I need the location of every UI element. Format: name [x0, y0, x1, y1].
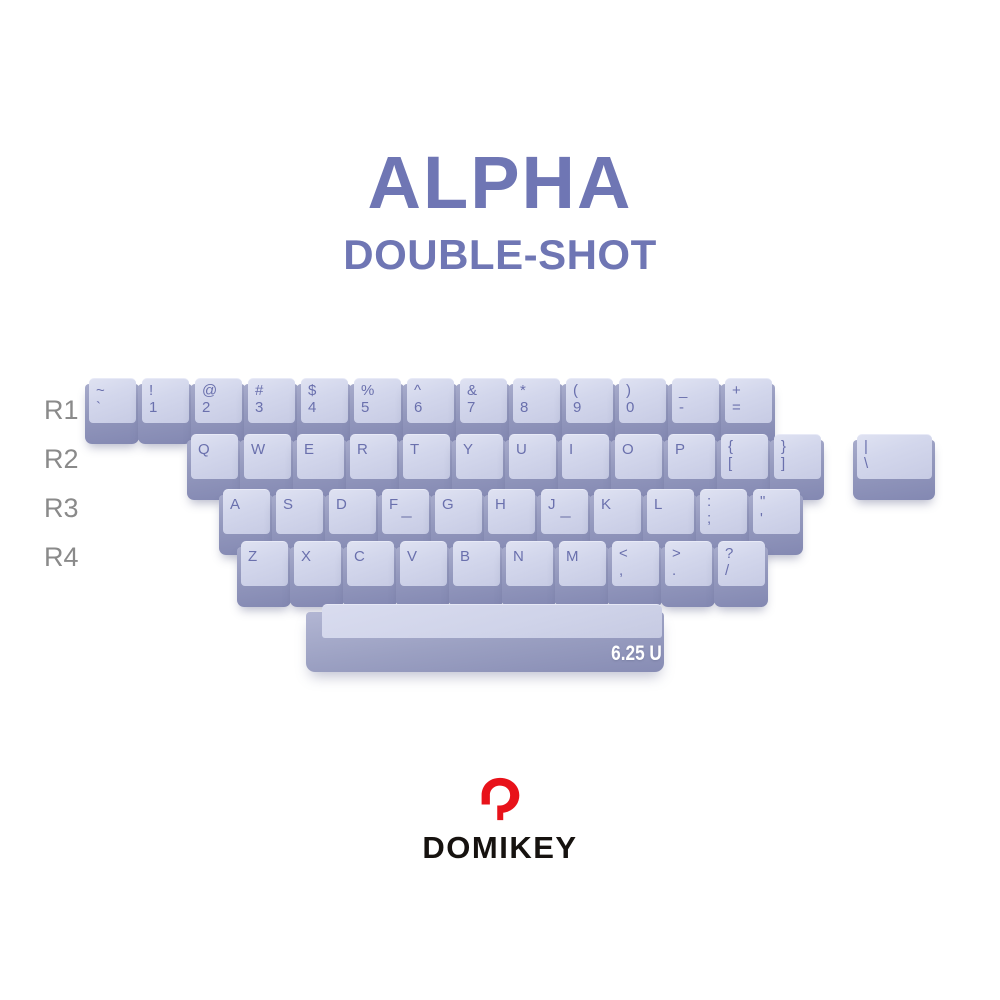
keycap-r1-3[interactable]: #3 [247, 378, 297, 436]
keycap-top-face: N [506, 541, 553, 586]
keycap-top-face: ?/ [718, 541, 765, 586]
keycap-legend: X [294, 542, 341, 586]
keycap-legend-shift: # [255, 383, 295, 398]
keycap-legend-shift: % [361, 383, 401, 398]
keycap-legend-shift: ! [149, 383, 189, 398]
keycap-top-face: D [329, 489, 376, 534]
spacebar-top-face [322, 604, 662, 638]
keycap-r3-sym9[interactable]: :; [699, 489, 749, 547]
keycap-legend: %5 [354, 379, 401, 423]
spacebar-size-label: 6.25 U [611, 642, 662, 666]
keycap-top-face: R [350, 434, 397, 479]
keycap-legend-shift: + [732, 383, 772, 398]
keycap-top-face: (9 [566, 378, 613, 423]
keycap-legend: P [668, 435, 715, 479]
keycap-top-face: I [562, 434, 609, 479]
keycap-r4-sym7[interactable]: <, [611, 541, 661, 599]
keycap-top-face: U [509, 434, 556, 479]
keycap-legend-shift: @ [202, 383, 242, 398]
keycap-r4-z[interactable]: Z [240, 541, 290, 599]
keycap-legend: M [559, 542, 606, 586]
keycap-r4-b[interactable]: B [452, 541, 502, 599]
keycap-r2-p[interactable]: P [667, 434, 717, 492]
keycap-legend-base: W [251, 442, 291, 457]
keycap-legend: _- [672, 379, 719, 423]
keycap-legend-base: 0 [626, 400, 666, 415]
keycap-top-face: S [276, 489, 323, 534]
keycap-legend: @2 [195, 379, 242, 423]
keycap-top-face: !1 [142, 378, 189, 423]
keycap-legend-shift: > [672, 546, 712, 561]
keycap-legend: (9 [566, 379, 613, 423]
keycap-top-face: @2 [195, 378, 242, 423]
keycap-r1-sym12[interactable]: += [724, 378, 774, 436]
keycap-top-face: K [594, 489, 641, 534]
keycap-legend: K [594, 490, 641, 534]
keycap-r4-x[interactable]: X [293, 541, 343, 599]
keycap-legend: O [615, 435, 662, 479]
keycap-legend: L [647, 490, 694, 534]
keycap-legend: Z [241, 542, 288, 586]
keycap-legend-base: X [301, 549, 341, 564]
keycap-legend-base: 5 [361, 400, 401, 415]
keycap-legend-base: \ [864, 456, 932, 471]
keycap-top-face: Q [191, 434, 238, 479]
keycap-legend-base: A [230, 497, 270, 512]
keycap-legend: I [562, 435, 609, 479]
keycap-legend-base: G [442, 497, 482, 512]
keycap-top-face: |\ [857, 434, 932, 479]
keycap-legend-shift: : [707, 494, 747, 509]
keycap-legend: W [244, 435, 291, 479]
keycap-legend-base: Z [248, 549, 288, 564]
keycap-r3-k[interactable]: K [593, 489, 643, 547]
keycap-r2-i[interactable]: I [561, 434, 611, 492]
keycap-r1-sym11[interactable]: _- [671, 378, 721, 436]
keycap-r1-2[interactable]: @2 [194, 378, 244, 436]
keycap-row-r4: ZXCVBNM<,>.?/ [240, 541, 770, 611]
keycap-legend-shift: } [781, 439, 821, 454]
keycap-legend-base: F [389, 497, 429, 512]
keycap-top-face: E [297, 434, 344, 479]
keycap-legend: U [509, 435, 556, 479]
keycap-legend: B [453, 542, 500, 586]
keycap-r2-t[interactable]: T [402, 434, 452, 492]
keycap-legend-shift: " [760, 494, 800, 509]
keycap-legend: *8 [513, 379, 560, 423]
keycap-legend-shift: { [728, 439, 768, 454]
keycap-legend-base: P [675, 442, 715, 457]
keycap-r2-y[interactable]: Y [455, 434, 505, 492]
brand-block: DOMIKEY [0, 776, 1000, 863]
keycap-legend-base: 9 [573, 400, 613, 415]
keycap-r3-g[interactable]: G [434, 489, 484, 547]
keycap-legend-base: U [516, 442, 556, 457]
keycap-legend-base: J [548, 497, 588, 512]
keycap-legend-base: S [283, 497, 323, 512]
keycap-top-face: *8 [513, 378, 560, 423]
keycap-legend-shift: | [864, 439, 932, 454]
keycap-top-face: )0 [619, 378, 666, 423]
keycap-legend-base: ] [781, 456, 821, 471]
keycap-top-face: <, [612, 541, 659, 586]
keycap-r2-r[interactable]: R [349, 434, 399, 492]
keycap-r3-sym10[interactable]: "' [752, 489, 802, 547]
keycap-legend: Q [191, 435, 238, 479]
keycap-top-face: A [223, 489, 270, 534]
keycap-r3-j[interactable]: J [540, 489, 590, 547]
keycap-legend-base: ' [760, 511, 800, 526]
keycap-top-face: += [725, 378, 772, 423]
keycap-legend: <, [612, 542, 659, 586]
keycap-legend: D [329, 490, 376, 534]
keycap-legend-base: 3 [255, 400, 295, 415]
keycap-legend-shift: ) [626, 383, 666, 398]
keycap-top-face: C [347, 541, 394, 586]
keycap-legend-shift: * [520, 383, 560, 398]
keycap-legend-base: 2 [202, 400, 242, 415]
keycap-legend-base: 8 [520, 400, 560, 415]
keycap-legend: }] [774, 435, 821, 479]
keycap-r2-q[interactable]: Q [190, 434, 240, 492]
keycap-top-face: O [615, 434, 662, 479]
keycap-top-face: F [382, 489, 429, 534]
keycap-r4-sym9[interactable]: ?/ [717, 541, 767, 599]
keycap-top-face: W [244, 434, 291, 479]
keycap-legend-base: H [495, 497, 535, 512]
keycap-legend-shift: $ [308, 383, 348, 398]
brand-name: DOMIKEY [0, 832, 1000, 863]
keycap-top-face: Y [456, 434, 503, 479]
keycap-legend: C [347, 542, 394, 586]
keycap-legend: !1 [142, 379, 189, 423]
keycap-legend-base: [ [728, 456, 768, 471]
keycap-legend: Y [456, 435, 503, 479]
keycap-top-face: {[ [721, 434, 768, 479]
keycap-legend: G [435, 490, 482, 534]
keycap-r2-sym12[interactable]: |\ [856, 434, 934, 492]
keycap-legend: ^6 [407, 379, 454, 423]
domikey-logo-icon [477, 776, 523, 822]
keycap-legend-base: 7 [467, 400, 507, 415]
keycap-r2-e[interactable]: E [296, 434, 346, 492]
keycap-legend-base: E [304, 442, 344, 457]
keycap-top-face: J [541, 489, 588, 534]
keycap-r3-f[interactable]: F [381, 489, 431, 547]
keycap-legend-base: - [679, 400, 719, 415]
keycap-r3-d[interactable]: D [328, 489, 378, 547]
keycap-top-face: B [453, 541, 500, 586]
keycap-r4-m[interactable]: M [558, 541, 608, 599]
keycap-r4-sym8[interactable]: >. [664, 541, 714, 599]
keycap-r1-6[interactable]: ^6 [406, 378, 456, 436]
keycap-r2-sym11[interactable]: }] [773, 434, 823, 492]
keycap-top-face: X [294, 541, 341, 586]
keycap-homing-bar [560, 516, 571, 518]
keycap-r3-l[interactable]: L [646, 489, 696, 547]
keycap-legend: E [297, 435, 344, 479]
keycap-legend-base: T [410, 442, 450, 457]
keycap-legend: "' [753, 490, 800, 534]
keycap-r1-7[interactable]: &7 [459, 378, 509, 436]
keycap-r4-n[interactable]: N [505, 541, 555, 599]
keycap-legend-shift: ~ [96, 383, 136, 398]
keycap-legend-base: ` [96, 400, 136, 415]
keycap-legend: += [725, 379, 772, 423]
keycap-legend-base: O [622, 442, 662, 457]
keycap-legend: {[ [721, 435, 768, 479]
keycap-r2-u[interactable]: U [508, 434, 558, 492]
keycap-legend-base: M [566, 549, 606, 564]
keycap-legend-base: Q [198, 442, 238, 457]
keycap-r1-8[interactable]: *8 [512, 378, 562, 436]
keycap-legend: |\ [857, 435, 932, 479]
keycap-r1-4[interactable]: $4 [300, 378, 350, 436]
keycap-legend: ~` [89, 379, 136, 423]
keycap-legend-shift: & [467, 383, 507, 398]
keycap-legend-base: ; [707, 511, 747, 526]
keycap-legend: )0 [619, 379, 666, 423]
keycap-legend-shift: _ [679, 383, 719, 398]
keycap-legend: A [223, 490, 270, 534]
keycap-legend-base: 6 [414, 400, 454, 415]
keycap-legend: S [276, 490, 323, 534]
keycap-legend: H [488, 490, 535, 534]
keycap-legend: R [350, 435, 397, 479]
keycap-legend-base: C [354, 549, 394, 564]
keycap-legend-base: 1 [149, 400, 189, 415]
keycap-top-face: Z [241, 541, 288, 586]
keycap-legend-base: K [601, 497, 641, 512]
keycap-legend-base: . [672, 563, 712, 578]
keycap-legend-base: I [569, 442, 609, 457]
keycap-top-face: V [400, 541, 447, 586]
keycap-r2-sym10[interactable]: {[ [720, 434, 770, 492]
keycap-top-face: #3 [248, 378, 295, 423]
keycap-r1-0[interactable]: )0 [618, 378, 668, 436]
keycap-top-face: L [647, 489, 694, 534]
keycap-legend: J [541, 490, 588, 534]
keycap-top-face: >. [665, 541, 712, 586]
keycap-legend-base: V [407, 549, 447, 564]
keycap-r4-c[interactable]: C [346, 541, 396, 599]
keycap-r3-h[interactable]: H [487, 489, 537, 547]
keycap-top-face: P [668, 434, 715, 479]
keycap-r1-9[interactable]: (9 [565, 378, 615, 436]
keycap-legend-base: L [654, 497, 694, 512]
keycap-homing-bar [401, 516, 412, 518]
keycap-top-face: :; [700, 489, 747, 534]
keycap-top-face: }] [774, 434, 821, 479]
keycap-r2-o[interactable]: O [614, 434, 664, 492]
keycap-legend: $4 [301, 379, 348, 423]
keycap-legend: #3 [248, 379, 295, 423]
keycap-top-face: &7 [460, 378, 507, 423]
keycap-legend: >. [665, 542, 712, 586]
keycap-legend-shift: < [619, 546, 659, 561]
keycap-r1-5[interactable]: %5 [353, 378, 403, 436]
keycap-top-face: ^6 [407, 378, 454, 423]
keycap-r2-w[interactable]: W [243, 434, 293, 492]
keycap-r1-sym0[interactable]: ~` [88, 378, 138, 436]
keycap-legend-base: / [725, 563, 765, 578]
keycap-legend-base: = [732, 400, 772, 415]
keycap-legend: &7 [460, 379, 507, 423]
keycap-legend-base: , [619, 563, 659, 578]
keycap-top-face: T [403, 434, 450, 479]
keycap-legend-base: 4 [308, 400, 348, 415]
keycap-top-face: %5 [354, 378, 401, 423]
keycap-legend-base: B [460, 549, 500, 564]
keycap-top-face: ~` [89, 378, 136, 423]
keycap-top-face: H [488, 489, 535, 534]
keycap-r4-v[interactable]: V [399, 541, 449, 599]
keycap-legend: N [506, 542, 553, 586]
keycap-legend: T [403, 435, 450, 479]
keycap-r3-a[interactable]: A [222, 489, 272, 547]
keycap-legend: ?/ [718, 542, 765, 586]
keycap-legend: F [382, 490, 429, 534]
keycap-top-face: G [435, 489, 482, 534]
keycap-legend-base: D [336, 497, 376, 512]
keycap-top-face: M [559, 541, 606, 586]
keycap-legend: V [400, 542, 447, 586]
keycap-r3-s[interactable]: S [275, 489, 325, 547]
keycap-legend: :; [700, 490, 747, 534]
keycap-legend-shift: ^ [414, 383, 454, 398]
keycap-top-face: "' [753, 489, 800, 534]
keycap-top-face: $4 [301, 378, 348, 423]
keycap-legend-shift: ( [573, 383, 613, 398]
keycap-legend-base: R [357, 442, 397, 457]
keycap-legend-base: Y [463, 442, 503, 457]
keycap-legend-base: N [513, 549, 553, 564]
keycap-top-face: _- [672, 378, 719, 423]
keycap-legend-shift: ? [725, 546, 765, 561]
keycap-r1-1[interactable]: !1 [141, 378, 191, 436]
